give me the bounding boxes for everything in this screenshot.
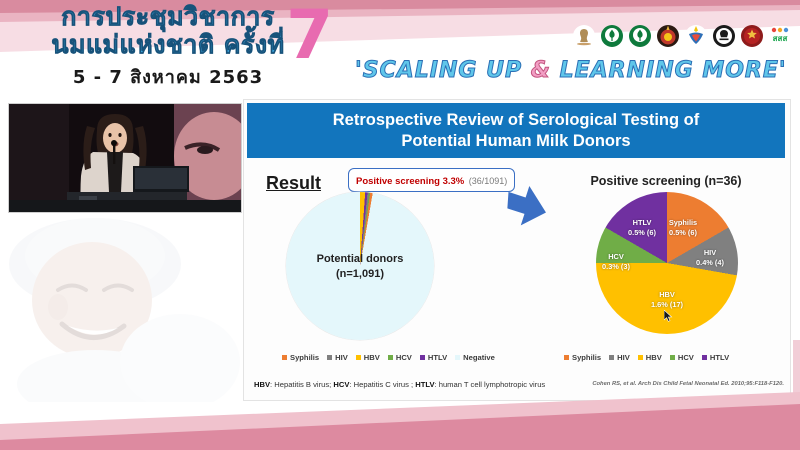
flow-arrow-icon — [503, 184, 549, 228]
legend-swatch-syphilis-left — [282, 355, 287, 360]
logo-royal-garuda-crest-icon — [684, 24, 708, 48]
legend-item-hcv-right: HCV — [670, 353, 694, 362]
slide-citation: Cohen RS, et al. Arch Dis Child Fetal Ne… — [592, 381, 784, 387]
slice-label-hbv-name: HBV — [637, 290, 697, 300]
slice-label-hiv: HIV 0.4% (4) — [688, 248, 732, 267]
legend-swatch-hiv-left — [327, 355, 332, 360]
legend-item-hbv-left: HBV — [356, 353, 380, 362]
legend-swatch-hcv-left — [388, 355, 393, 360]
callout-fraction-text: (36/1091) — [469, 176, 508, 186]
slice-label-hcv-value: 0.3% (3) — [594, 262, 638, 272]
conference-tagline: 'SCALING UP & LEARNING MORE' — [355, 58, 795, 83]
sponsor-logos: สสส — [572, 24, 792, 48]
legend-item-syphilis-left: Syphilis — [282, 353, 319, 362]
potential-donors-subtitle: (n=1,091) — [286, 267, 434, 282]
legend-swatch-negative-left — [455, 355, 460, 360]
footnote-hcv-key: HCV — [333, 380, 349, 389]
legend-swatch-htlv-right — [702, 355, 707, 360]
legend-label-htlv-left: HTLV — [428, 353, 447, 362]
legend-swatch-hiv-right — [609, 355, 614, 360]
slice-label-hbv-value: 1.6% (17) — [637, 300, 697, 310]
legend-label-syphilis-left: Syphilis — [290, 353, 319, 362]
legend-item-syphilis-right: Syphilis — [564, 353, 601, 362]
svg-text:สสส: สสส — [773, 34, 788, 43]
slice-label-htlv-value: 0.5% (6) — [618, 228, 666, 238]
slide-title-line-2: Potential Human Milk Donors — [401, 131, 630, 152]
slice-label-hcv: HCV 0.3% (3) — [594, 252, 638, 271]
potential-donors-pie-label: Potential donors (n=1,091) — [286, 252, 434, 282]
legend-label-hcv-right: HCV — [678, 353, 694, 362]
footnote-htlv-key: HTLV — [415, 380, 434, 389]
tagline-part-1: 'SCALING UP — [355, 58, 531, 83]
footnote-hcv-text: : Hepatitis C virus ; — [349, 380, 415, 389]
legend-label-hbv-right: HBV — [646, 353, 662, 362]
footnote-htlv-text: : human T cell lymphotropic virus — [435, 380, 546, 389]
background-child-photo — [0, 212, 240, 402]
slice-label-hiv-value: 0.4% (4) — [688, 258, 732, 268]
legend-label-syphilis-right: Syphilis — [572, 353, 601, 362]
legend-swatch-syphilis-right — [564, 355, 569, 360]
legend-label-hbv-left: HBV — [364, 353, 380, 362]
logo-black-circular-institute-icon — [712, 24, 736, 48]
slice-label-hcv-name: HCV — [594, 252, 638, 262]
logo-red-royal-seal-icon — [740, 24, 764, 48]
conference-edition-number: 7 — [286, 2, 333, 70]
callout-percent-text: Positive screening 3.3% — [356, 176, 464, 187]
legend-item-hiv-left: HIV — [327, 353, 348, 362]
tagline-part-2: LEARNING MORE' — [551, 58, 787, 83]
conference-title-line-2: นมแม่แห่งชาติ ครั้งที่ — [18, 32, 318, 58]
positive-screening-pie-title: Positive screening (n=36) — [560, 174, 772, 188]
tagline-ampersand: & — [531, 58, 551, 83]
legend-item-negative-left: Negative — [455, 353, 495, 362]
mouse-cursor-icon — [664, 310, 673, 322]
conference-header: การประชุมวิชาการ นมแม่แห่งชาติ ครั้งที่ … — [0, 0, 800, 96]
legend-item-hcv-left: HCV — [388, 353, 412, 362]
slide-title: Retrospective Review of Serological Test… — [247, 103, 785, 158]
footnote-hbv-text: : Hepatitis B virus; — [270, 380, 333, 389]
slice-label-htlv-name: HTLV — [618, 218, 666, 228]
logo-royal-emblem-red-icon — [656, 24, 680, 48]
logo-thaihealth-sss-icon: สสส — [768, 24, 792, 48]
legend-item-htlv-left: HTLV — [420, 353, 447, 362]
result-heading: Result — [266, 173, 321, 194]
legend-item-hbv-right: HBV — [638, 353, 662, 362]
legend-swatch-htlv-left — [420, 355, 425, 360]
presentation-slide: Retrospective Review of Serological Test… — [243, 99, 791, 401]
logo-ministry-of-public-health-green-1-icon — [600, 24, 624, 48]
logo-ministry-of-public-health-green-2-icon — [628, 24, 652, 48]
conference-title-line-1: การประชุมวิชาการ — [18, 4, 318, 30]
legend-label-hiv-right: HIV — [617, 353, 630, 362]
logo-thai-breastfeeding-foundation-icon — [572, 24, 596, 48]
potential-donors-legend: Syphilis HIV HBV HCV HTLV Negative — [282, 353, 495, 362]
positive-screening-callout: Positive screening 3.3% (36/1091) — [348, 168, 515, 192]
legend-label-htlv-right: HTLV — [710, 353, 729, 362]
legend-label-negative-left: Negative — [463, 353, 495, 362]
presentation-screen: การประชุมวิชาการ นมแม่แห่งชาติ ครั้งที่ … — [0, 0, 800, 450]
potential-donors-title: Potential donors — [286, 252, 434, 267]
legend-swatch-hcv-right — [670, 355, 675, 360]
legend-swatch-hbv-left — [356, 355, 361, 360]
conference-thai-title-block: การประชุมวิชาการ นมแม่แห่งชาติ ครั้งที่ … — [18, 4, 318, 91]
speaker-webcam-feed[interactable] — [8, 103, 242, 213]
legend-label-hcv-left: HCV — [396, 353, 412, 362]
footnote-hbv-key: HBV — [254, 380, 270, 389]
slice-label-hbv: HBV 1.6% (17) — [637, 290, 697, 309]
slide-title-line-1: Retrospective Review of Serological Test… — [333, 110, 699, 131]
legend-item-hiv-right: HIV — [609, 353, 630, 362]
legend-swatch-hbv-right — [638, 355, 643, 360]
right-edge-pink-strip-light — [793, 340, 800, 400]
legend-label-hiv-left: HIV — [335, 353, 348, 362]
slice-label-hiv-name: HIV — [688, 248, 732, 258]
slice-label-htlv: HTLV 0.5% (6) — [618, 218, 666, 237]
conference-date: 5 - 7 สิงหาคม 2563 — [18, 62, 318, 91]
legend-item-htlv-right: HTLV — [702, 353, 729, 362]
positive-screening-legend: Syphilis HIV HBV HCV HTLV — [564, 353, 729, 362]
